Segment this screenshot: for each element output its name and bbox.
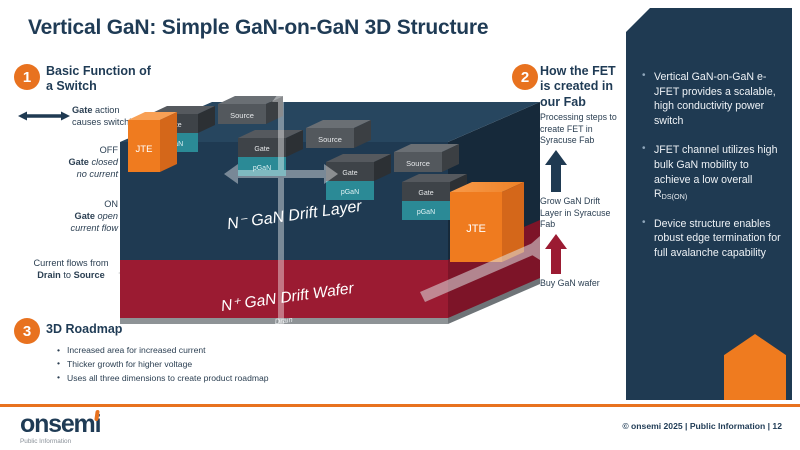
fab-arrow-top-icon bbox=[545, 150, 567, 192]
summary-bullet-list: Vertical GaN-on-GaN e-JFET provides a sc… bbox=[640, 70, 784, 276]
gate-action-arrow-icon bbox=[18, 110, 70, 122]
gate-label: Gate bbox=[418, 190, 433, 197]
jte-label: JTE bbox=[136, 144, 153, 155]
pgan-label: pGaN bbox=[417, 209, 435, 216]
summary-panel: Vertical GaN-on-GaN e-JFET provides a sc… bbox=[626, 8, 792, 400]
list-item: Vertical GaN-on-GaN e-JFET provides a sc… bbox=[640, 70, 784, 128]
logo-wordmark: onsemi bbox=[20, 410, 100, 438]
gate-label: Gate bbox=[342, 170, 357, 177]
rdson-subscript: DS(ON) bbox=[662, 192, 688, 201]
gan-device-3d-diagram: Drain N⁺ GaN Drift Wafer N⁻ GaN Drift La… bbox=[120, 80, 540, 350]
callout-badge-3: 3 bbox=[14, 318, 40, 344]
callout-heading-2: How the FET is created in our Fab bbox=[540, 64, 624, 110]
jte-left-block: JTE bbox=[128, 112, 177, 172]
gate-label: Gate bbox=[254, 146, 269, 153]
summary-bullet-3: Device structure enables robust edge ter… bbox=[654, 218, 781, 259]
fab-arrow-bottom-icon bbox=[545, 234, 567, 274]
footer-divider bbox=[0, 404, 800, 407]
callout-badge-1: 1 bbox=[14, 64, 40, 90]
page-title: Vertical GaN: Simple GaN-on-GaN 3D Struc… bbox=[28, 16, 488, 40]
logo-subtitle: Public Information bbox=[20, 438, 100, 445]
on-state-label: ONGate opencurrent flow bbox=[10, 199, 118, 235]
callout-heading-3: 3D Roadmap bbox=[46, 322, 122, 337]
source-label: Source bbox=[318, 135, 342, 144]
summary-bullet-1: Vertical GaN-on-GaN e-JFET provides a sc… bbox=[654, 71, 776, 127]
jte-label: JTE bbox=[466, 223, 486, 235]
fab-step-bottom-label: Buy GaN wafer bbox=[540, 278, 622, 290]
fab-step-mid-label: Grow GaN Drift Layer in Syracuse Fab bbox=[540, 196, 622, 231]
source-label: Source bbox=[230, 111, 254, 120]
onsemi-logo: onsemi Public Information bbox=[20, 412, 100, 445]
current-flow-label: Current flows fromDrain to Source bbox=[18, 258, 124, 282]
jte-right-block: JTE bbox=[450, 182, 524, 262]
roadmap-bullet-list: Increased area for increased current Thi… bbox=[56, 344, 336, 386]
list-item: Device structure enables robust edge ter… bbox=[640, 217, 784, 261]
list-item: Thicker growth for higher voltage bbox=[56, 358, 336, 372]
slide: Vertical GaN: Simple GaN-on-GaN 3D Struc… bbox=[0, 0, 800, 450]
pgan-label: pGaN bbox=[341, 189, 359, 196]
footer-copyright: © onsemi 2025 | Public Information | 12 bbox=[622, 421, 782, 431]
list-item: Uses all three dimensions to create prod… bbox=[56, 372, 336, 386]
source-label: Source bbox=[406, 159, 430, 168]
fab-step-top-label: Processing steps to create FET in Syracu… bbox=[540, 112, 622, 147]
list-item: JFET channel utilizes high bulk GaN mobi… bbox=[640, 143, 784, 201]
panel-chevron-shape bbox=[724, 334, 786, 400]
off-state-label: OFFGate closedno current bbox=[10, 145, 118, 181]
